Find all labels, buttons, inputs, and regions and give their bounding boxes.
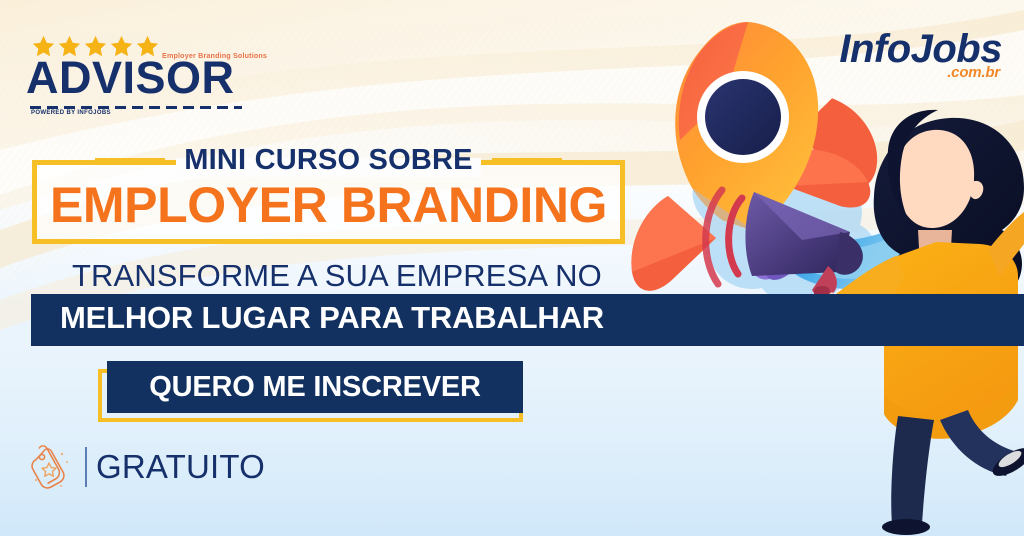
advisor-dash-divider — [30, 106, 242, 109]
promo-banner: Employer Branding Solutions ADVISOR POWE… — [0, 0, 1024, 536]
price-badge: GRATUITO — [30, 442, 265, 492]
kicker-dash-right — [492, 158, 562, 163]
signup-button[interactable]: QUERO ME INSCREVER — [107, 361, 523, 413]
headline-kicker-row: MINI CURSO SOBRE — [32, 145, 625, 175]
subtitle-line-2: MELHOR LUGAR PARA TRABALHAR — [60, 300, 604, 336]
price-badge-divider — [85, 447, 87, 487]
subtitle-line-1: TRANSFORME A SUA EMPRESA NO — [72, 258, 602, 294]
advisor-logo: Employer Branding Solutions ADVISOR POWE… — [26, 30, 241, 120]
advisor-powered-by: POWERED BY INFOJOBS — [31, 110, 111, 116]
headline-kicker: MINI CURSO SOBRE — [176, 144, 480, 177]
price-badge-label: GRATUITO — [96, 448, 265, 486]
headline-main: EMPLOYER BRANDING — [32, 176, 625, 234]
rocket-megaphone-illustration — [540, 0, 1024, 536]
advisor-wordmark: ADVISOR — [26, 55, 235, 100]
kicker-dash-left — [95, 158, 165, 163]
price-tag-icon — [30, 442, 76, 492]
